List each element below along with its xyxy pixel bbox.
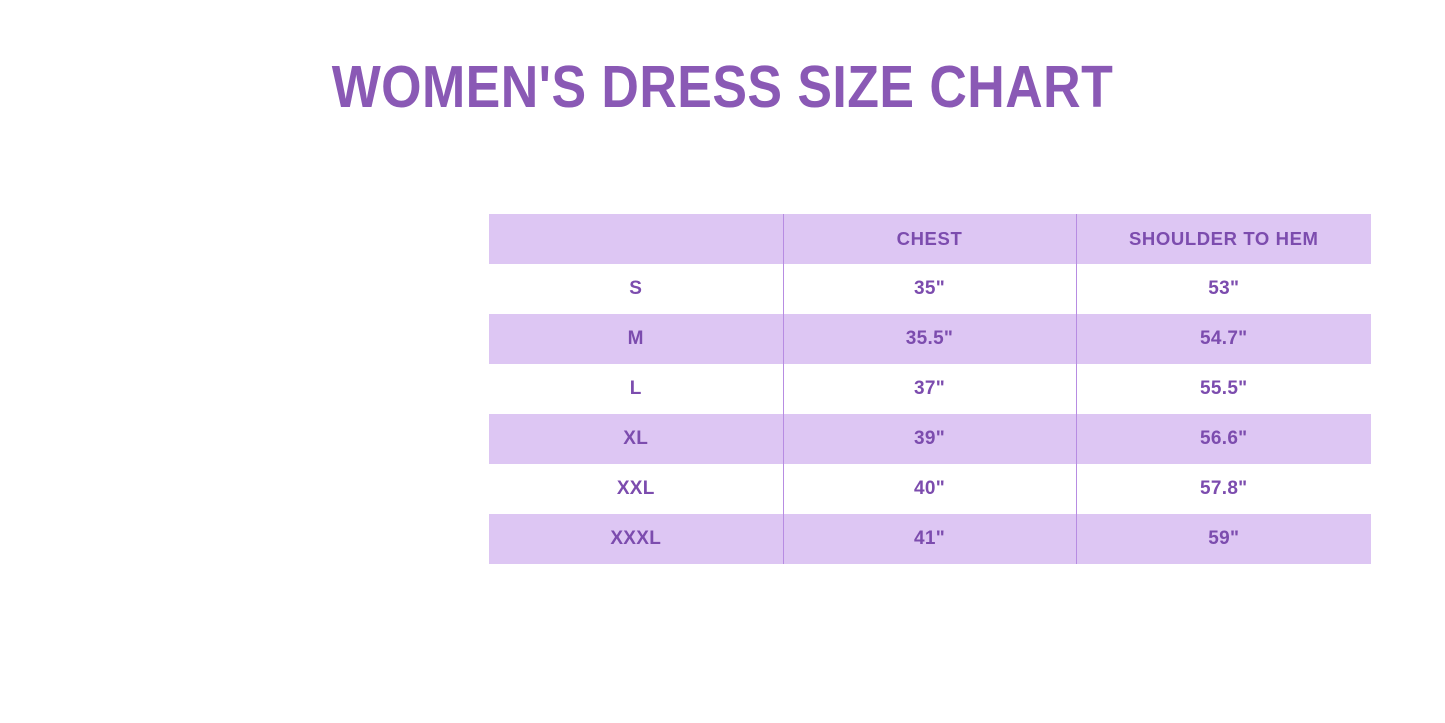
cell-shoulder-to-hem-value: 55.5": [1077, 364, 1372, 414]
size-chart-page: WOMEN'S DRESS SIZE CHART CHEST SHOULDER …: [0, 0, 1445, 723]
table-header-row: CHEST SHOULDER TO HEM: [489, 214, 1371, 264]
cell-chest-value: 41": [784, 514, 1076, 564]
table-row: XXXL 41" 59": [489, 514, 1371, 564]
cell-shoulder-to-hem: 55.5": [1076, 364, 1371, 414]
table-row: XXL 40" 57.8": [489, 464, 1371, 514]
size-table-container: CHEST SHOULDER TO HEM S 35" 53": [489, 214, 1371, 564]
cell-size-value: L: [489, 364, 783, 414]
cell-size-value: S: [489, 264, 783, 314]
cell-size: M: [489, 314, 783, 364]
page-title: WOMEN'S DRESS SIZE CHART: [87, 55, 1359, 120]
cell-chest-value: 35.5": [784, 314, 1076, 364]
cell-size-value: XL: [489, 414, 783, 464]
table-row: M 35.5" 54.7": [489, 314, 1371, 364]
table-row: XL 39" 56.6": [489, 414, 1371, 464]
cell-shoulder-to-hem-value: 59": [1077, 514, 1372, 564]
cell-chest-value: 40": [784, 464, 1076, 514]
cell-chest: 41": [783, 514, 1076, 564]
cell-chest: 37": [783, 364, 1076, 414]
cell-shoulder-to-hem: 56.6": [1076, 414, 1371, 464]
cell-size-value: XXXL: [489, 514, 783, 564]
cell-size: XXXL: [489, 514, 783, 564]
cell-size-value: XXL: [489, 464, 783, 514]
cell-shoulder-to-hem-value: 57.8": [1077, 464, 1372, 514]
cell-chest: 40": [783, 464, 1076, 514]
cell-size-value: M: [489, 314, 783, 364]
cell-size: XL: [489, 414, 783, 464]
column-header-size: [489, 214, 783, 264]
column-header-shoulder-to-hem: SHOULDER TO HEM: [1076, 214, 1371, 264]
cell-shoulder-to-hem: 54.7": [1076, 314, 1371, 364]
column-header-chest-label: CHEST: [784, 214, 1076, 264]
cell-chest: 35.5": [783, 314, 1076, 364]
cell-shoulder-to-hem: 57.8": [1076, 464, 1371, 514]
cell-size: XXL: [489, 464, 783, 514]
cell-chest: 35": [783, 264, 1076, 314]
cell-size: L: [489, 364, 783, 414]
cell-chest-value: 39": [784, 414, 1076, 464]
column-header-shoulder-to-hem-label: SHOULDER TO HEM: [1077, 214, 1372, 264]
cell-shoulder-to-hem-value: 54.7": [1077, 314, 1372, 364]
table-row: L 37" 55.5": [489, 364, 1371, 414]
column-header-chest: CHEST: [783, 214, 1076, 264]
cell-chest-value: 35": [784, 264, 1076, 314]
size-chart-table: CHEST SHOULDER TO HEM S 35" 53": [489, 214, 1371, 564]
cell-shoulder-to-hem-value: 56.6": [1077, 414, 1372, 464]
table-header: CHEST SHOULDER TO HEM: [489, 214, 1371, 264]
table-body: S 35" 53" M 35.5": [489, 264, 1371, 564]
table-row: S 35" 53": [489, 264, 1371, 314]
cell-shoulder-to-hem-value: 53": [1077, 264, 1372, 314]
cell-chest-value: 37": [784, 364, 1076, 414]
cell-shoulder-to-hem: 59": [1076, 514, 1371, 564]
cell-chest: 39": [783, 414, 1076, 464]
cell-size: S: [489, 264, 783, 314]
cell-shoulder-to-hem: 53": [1076, 264, 1371, 314]
